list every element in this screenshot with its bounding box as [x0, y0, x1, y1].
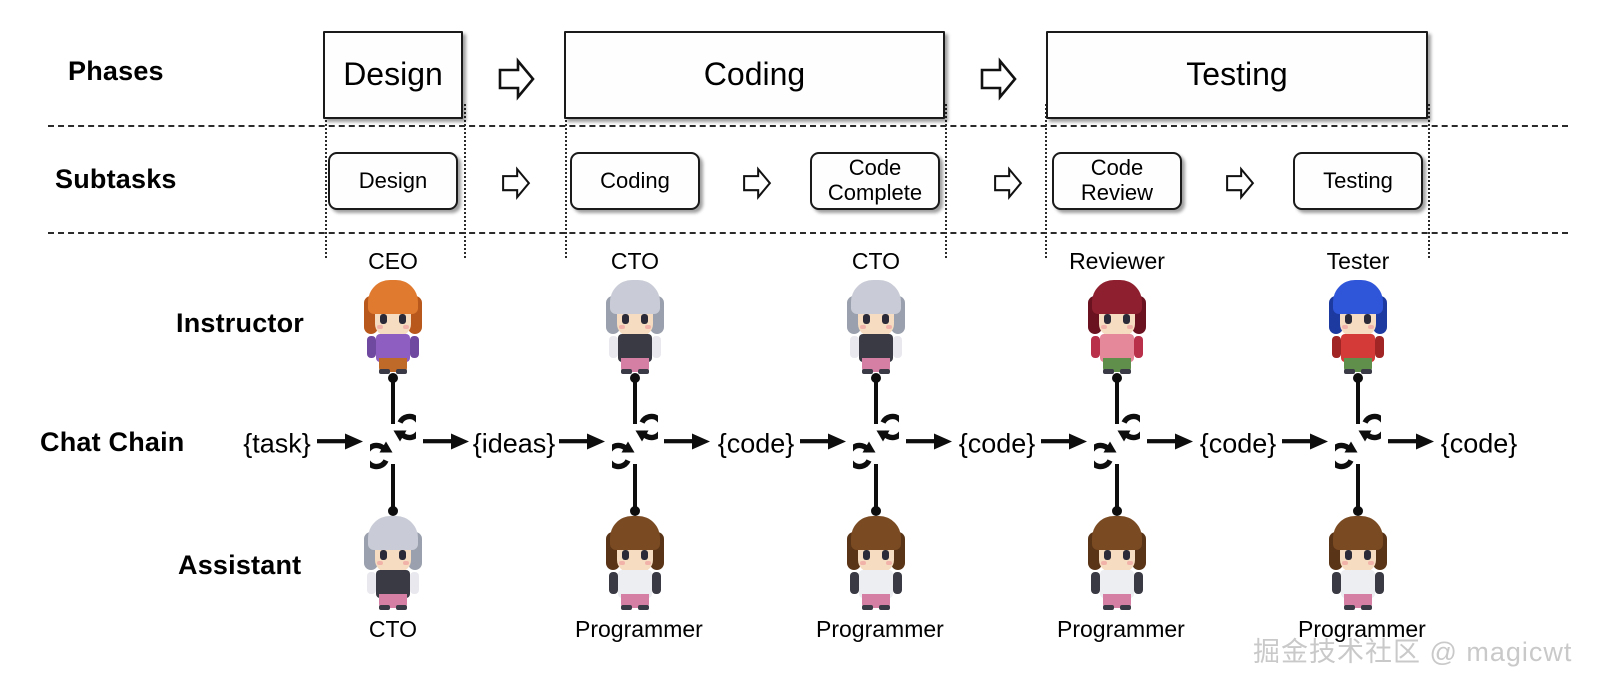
chain-arrow-icon-5	[800, 431, 848, 458]
horizontal-separator-1	[48, 125, 1568, 127]
instructor-avatar-cell-1[interactable]	[333, 278, 453, 374]
instructor-role-name: CEO	[333, 248, 453, 275]
instructor-avatar-cell-3[interactable]	[816, 278, 936, 374]
vertical-separator-6	[1428, 104, 1430, 258]
chain-token-5: {code}	[1200, 429, 1277, 460]
instructor-link-dot-5	[1353, 373, 1363, 383]
phase-arrow-icon-coding-to-testing	[978, 57, 1018, 101]
instructor-avatar-cell-4[interactable]	[1057, 278, 1177, 374]
assistant-avatar-programmer	[1327, 514, 1389, 610]
assistant-role-name: Programmer	[816, 616, 936, 643]
assistant-avatar-cell-2[interactable]	[575, 514, 695, 610]
vertical-separator-4	[945, 104, 947, 258]
row-label-subtasks: Subtasks	[55, 164, 177, 195]
assistant-name-cell-4: Programmer	[1057, 616, 1177, 643]
instructor-role-name: CTO	[575, 248, 695, 275]
instructor-avatar-cto	[845, 278, 907, 374]
instructor-avatar-cell-2[interactable]	[575, 278, 695, 374]
assistant-role-name: CTO	[333, 616, 453, 643]
instructor-name-cell-2: CTO	[575, 248, 695, 275]
instructor-link-dot-1	[388, 373, 398, 383]
subtask-arrow-icon-coding-to-code-complete	[741, 166, 772, 200]
chat-cycle-icon-2[interactable]	[612, 414, 658, 475]
phase-box-testing[interactable]: Testing	[1046, 31, 1428, 119]
horizontal-separator-2	[48, 232, 1568, 234]
instructor-name-cell-4: Reviewer	[1057, 248, 1177, 275]
instructor-role-name: Tester	[1298, 248, 1418, 275]
instructor-link-dot-3	[871, 373, 881, 383]
vertical-separator-1	[325, 104, 327, 258]
assistant-name-cell-2: Programmer	[575, 616, 695, 643]
instructor-avatar-cto	[604, 278, 666, 374]
instructor-role-name: CTO	[816, 248, 936, 275]
assistant-avatar-programmer	[1086, 514, 1148, 610]
chain-arrow-icon-8	[1147, 431, 1195, 458]
chat-cycle-icon-1[interactable]	[370, 414, 416, 475]
chat-cycle-icon-3[interactable]	[853, 414, 899, 475]
diagram-canvas: Phases Subtasks Instructor Chat Chain As…	[0, 0, 1606, 694]
assistant-name-cell-1: CTO	[333, 616, 453, 643]
vertical-separator-2	[464, 104, 466, 258]
chain-arrow-icon-6	[906, 431, 954, 458]
instructor-name-cell-1: CEO	[333, 248, 453, 275]
assistant-avatar-cto	[362, 514, 424, 610]
chain-arrow-icon-4	[664, 431, 712, 458]
instructor-avatar-cell-5[interactable]	[1298, 278, 1418, 374]
subtask-arrow-icon-review-to-testing	[1224, 166, 1255, 200]
assistant-avatar-cell-4[interactable]	[1057, 514, 1177, 610]
subtask-box-code-review[interactable]: Code Review	[1052, 152, 1182, 210]
chain-arrow-icon-3	[559, 431, 607, 458]
subtask-box-testing[interactable]: Testing	[1293, 152, 1423, 210]
subtask-arrow-icon-code-complete-to-review	[992, 166, 1023, 200]
chain-token-3: {code}	[718, 429, 795, 460]
chain-token-1: {task}	[243, 429, 311, 460]
subtask-box-code-complete[interactable]: Code Complete	[810, 152, 940, 210]
assistant-avatar-programmer	[604, 514, 666, 610]
chain-token-2: {ideas}	[473, 429, 556, 460]
chain-arrow-icon-1	[317, 431, 365, 458]
assistant-name-cell-3: Programmer	[816, 616, 936, 643]
chain-arrow-icon-2	[423, 431, 471, 458]
assistant-avatar-cell-5[interactable]	[1298, 514, 1418, 610]
assistant-avatar-cell-1[interactable]	[333, 514, 453, 610]
phase-arrow-icon-design-to-coding	[496, 57, 536, 101]
chain-arrow-icon-9	[1282, 431, 1330, 458]
chain-token-4: {code}	[959, 429, 1036, 460]
assistant-role-name: Programmer	[1057, 616, 1177, 643]
row-label-chat-chain: Chat Chain	[40, 427, 185, 458]
vertical-separator-5	[1045, 104, 1047, 258]
instructor-role-name: Reviewer	[1057, 248, 1177, 275]
assistant-avatar-programmer	[845, 514, 907, 610]
subtask-box-design[interactable]: Design	[328, 152, 458, 210]
instructor-link-dot-2	[630, 373, 640, 383]
row-label-instructor: Instructor	[176, 308, 304, 339]
chat-cycle-icon-4[interactable]	[1094, 414, 1140, 475]
instructor-avatar-tester	[1327, 278, 1389, 374]
subtask-arrow-icon-design-to-coding	[500, 166, 531, 200]
chat-cycle-icon-5[interactable]	[1335, 414, 1381, 475]
row-label-assistant: Assistant	[178, 550, 301, 581]
instructor-link-dot-4	[1112, 373, 1122, 383]
instructor-name-cell-3: CTO	[816, 248, 936, 275]
assistant-avatar-cell-3[interactable]	[816, 514, 936, 610]
phase-box-design[interactable]: Design	[323, 31, 463, 119]
assistant-role-name: Programmer	[575, 616, 695, 643]
instructor-avatar-ceo	[362, 278, 424, 374]
vertical-separator-3	[565, 104, 567, 258]
subtask-box-coding[interactable]: Coding	[570, 152, 700, 210]
instructor-avatar-reviewer	[1086, 278, 1148, 374]
chain-token-6: {code}	[1441, 429, 1518, 460]
chain-arrow-icon-10	[1388, 431, 1436, 458]
row-label-phases: Phases	[68, 56, 164, 87]
phase-box-coding[interactable]: Coding	[564, 31, 945, 119]
chain-arrow-icon-7	[1041, 431, 1089, 458]
instructor-name-cell-5: Tester	[1298, 248, 1418, 275]
watermark: 掘金技术社区 @ magicwt	[1253, 630, 1572, 669]
